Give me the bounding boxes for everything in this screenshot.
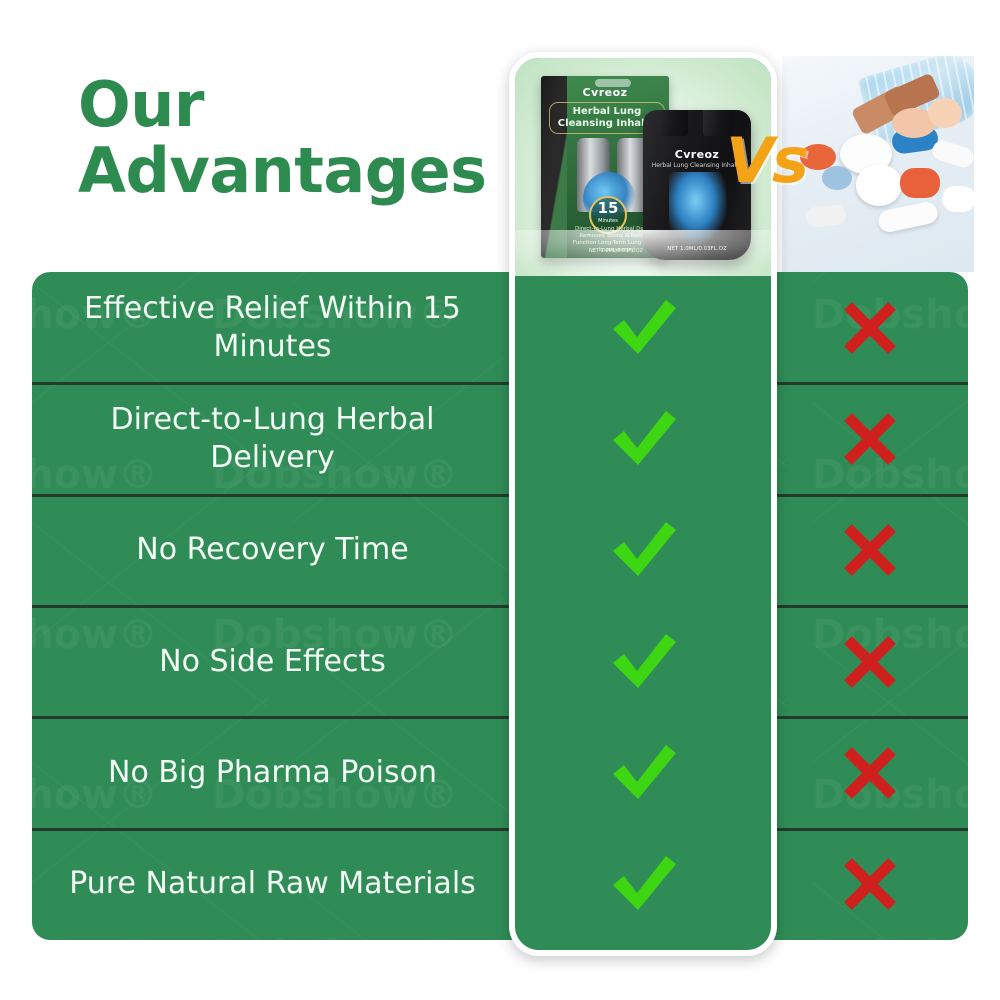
pill	[856, 164, 902, 206]
nozzle-icon	[657, 110, 688, 136]
cross-icon	[841, 410, 899, 468]
feature-label: No Side Effects	[32, 643, 513, 681]
pill	[928, 98, 962, 128]
feature-label: Direct-to-Lung Herbal Delivery	[32, 401, 513, 477]
cross-icon	[841, 855, 899, 913]
feature-label: No Big Pharma Poison	[32, 754, 513, 792]
cross-icon	[841, 633, 899, 691]
feature-label: No Recovery Time	[32, 531, 513, 569]
carton-brand: Cvreoz	[541, 86, 669, 99]
cross-icon	[841, 744, 899, 802]
row-divider	[32, 494, 968, 497]
feature-label: Pure Natural Raw Materials	[32, 865, 513, 903]
advantages-infographic: Our Advantages Vs Dobshow®Dobshow®Dobsho…	[0, 0, 1000, 1000]
comparison-table: Dobshow®Dobshow®Dobshow®Dobshow®Dobshow®…	[32, 272, 968, 940]
pill	[930, 138, 974, 170]
pill	[942, 186, 974, 212]
feature-label: Effective Relief Within 15 Minutes	[32, 290, 513, 366]
check-icon	[606, 518, 680, 582]
competitor-cell	[772, 521, 968, 579]
vs-badge: Vs	[726, 130, 807, 192]
our-product-mark	[515, 829, 771, 940]
row-divider	[32, 828, 968, 831]
pill	[900, 168, 940, 198]
check-icon	[606, 630, 680, 694]
check-icon	[606, 741, 680, 805]
title-line-2: Advantages	[78, 138, 508, 204]
competitor-cell	[772, 855, 968, 913]
row-divider	[32, 605, 968, 608]
table-row: Direct-to-Lung Herbal Delivery	[32, 383, 968, 494]
pill	[822, 166, 852, 190]
cross-icon	[841, 521, 899, 579]
table-row: No Recovery Time	[32, 495, 968, 606]
minutes-badge-number: 15	[598, 202, 619, 215]
competitor-pills-photo	[782, 56, 974, 272]
our-product-mark	[515, 383, 771, 494]
competitor-cell	[772, 410, 968, 468]
competitor-cell	[772, 633, 968, 691]
our-product-mark	[515, 606, 771, 717]
competitor-cell	[772, 299, 968, 357]
table-row: Pure Natural Raw Materials	[32, 829, 968, 940]
our-product-mark	[515, 272, 771, 383]
check-icon	[606, 296, 680, 360]
pill	[805, 204, 847, 228]
title-line-1: Our	[78, 72, 508, 138]
row-divider	[32, 716, 968, 719]
row-divider	[32, 382, 968, 385]
our-product-marks	[515, 276, 771, 950]
table-row: Effective Relief Within 15 Minutes	[32, 272, 968, 383]
competitor-cell	[772, 744, 968, 802]
pill	[876, 200, 939, 234]
page-title: Our Advantages	[78, 72, 508, 204]
check-icon	[606, 407, 680, 471]
table-row: No Side Effects	[32, 606, 968, 717]
table-row: No Big Pharma Poison	[32, 717, 968, 828]
our-product-mark	[515, 495, 771, 606]
cross-icon	[841, 299, 899, 357]
our-product-mark	[515, 717, 771, 828]
check-icon	[606, 852, 680, 916]
